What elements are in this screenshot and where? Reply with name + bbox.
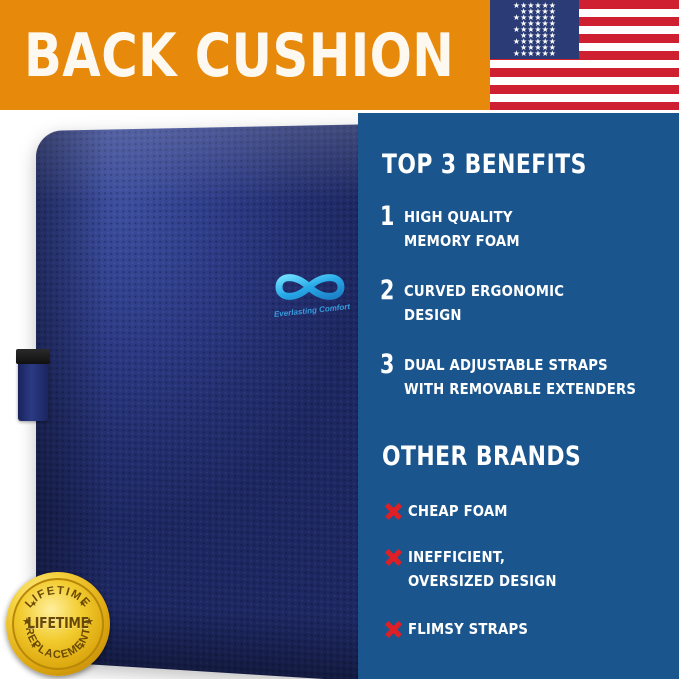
- benefit-number: 3: [380, 353, 400, 377]
- other-brands-heading: OTHER BRANDS: [382, 443, 581, 470]
- other-brand-label: CHEAP FOAM: [408, 499, 508, 523]
- benefit-label: DUAL ADJUSTABLE STRAPS WITH REMOVABLE EX…: [404, 353, 636, 401]
- strap-buckle-icon: [16, 349, 50, 364]
- flag-canton: ★★★★★★ ★★★★★ ★★★★★★ ★★★★★ ★★★★★★ ★★★★★ ★…: [490, 0, 579, 59]
- other-brand-item: CHEAP FOAM: [382, 499, 672, 523]
- star-icon: ★: [30, 640, 37, 651]
- red-x-icon: [382, 618, 408, 640]
- benefit-label: CURVED ERGONOMIC DESIGN: [404, 279, 564, 327]
- benefit-label: HIGH QUALITY MEMORY FOAM: [404, 205, 520, 253]
- benefit-item: 3 DUAL ADJUSTABLE STRAPS WITH REMOVABLE …: [380, 353, 670, 401]
- red-x-icon: [382, 500, 408, 522]
- other-brand-label: INEFFICIENT, OVERSIZED DESIGN: [408, 545, 557, 593]
- star-icon: ★: [79, 640, 86, 651]
- other-brand-label: FLIMSY STRAPS: [408, 617, 528, 641]
- benefit-item: 1 HIGH QUALITY MEMORY FOAM: [380, 205, 670, 253]
- other-brand-item: INEFFICIENT, OVERSIZED DESIGN: [382, 545, 672, 593]
- star-icon: ★: [79, 598, 86, 609]
- benefit-item: 2 CURVED ERGONOMIC DESIGN: [380, 279, 670, 327]
- features-panel: TOP 3 BENEFITS 1 HIGH QUALITY MEMORY FOA…: [358, 113, 679, 679]
- benefit-number: 1: [380, 205, 400, 229]
- infographic-canvas: BACK CUSHION ★★★★★★ ★★★★★ ★★★★★★ ★★★★★ ★…: [0, 0, 679, 679]
- header-bar: BACK CUSHION: [0, 0, 490, 110]
- usa-flag: ★★★★★★ ★★★★★ ★★★★★★ ★★★★★ ★★★★★★ ★★★★★ ★…: [490, 0, 679, 110]
- benefit-number: 2: [380, 279, 400, 303]
- other-brand-item: FLIMSY STRAPS: [382, 617, 672, 641]
- red-x-icon: [382, 546, 408, 568]
- lifetime-replacement-badge: LIFETIME REPLACEMENT ★ ★ ★ ★ ★ ★ LIFETIM…: [6, 572, 110, 676]
- benefits-heading: TOP 3 BENEFITS: [382, 151, 587, 178]
- adjustable-strap-top: [18, 353, 48, 421]
- star-icon: ★: [30, 598, 37, 609]
- page-title: BACK CUSHION: [24, 18, 438, 94]
- badge-center-text: LIFETIME: [10, 616, 106, 631]
